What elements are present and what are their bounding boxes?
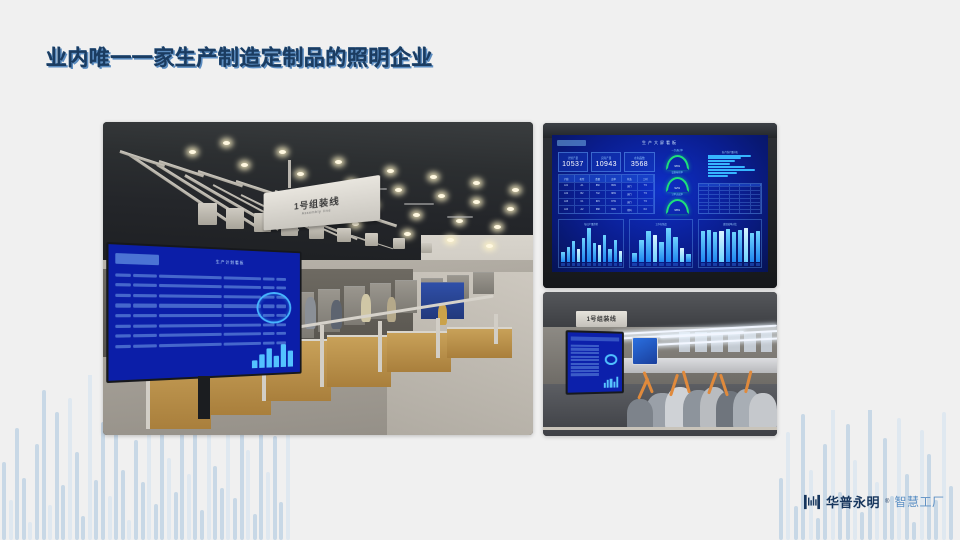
screen-table-cell: [115, 335, 131, 339]
screen-table-cell: [263, 332, 274, 335]
chart-wip: 工序在制品: [629, 219, 694, 268]
exception-cell: [720, 195, 730, 198]
axis-tick: [567, 263, 570, 266]
table-cell: 待料: [622, 206, 638, 213]
screen-table-cell: [115, 345, 131, 349]
axis-tick: [653, 263, 658, 266]
barrier-post: [436, 318, 440, 359]
table-header-cell: 数量: [590, 175, 606, 182]
chart-bar: [738, 230, 742, 262]
gauge: 订单达成率98%: [659, 195, 696, 214]
axis-tick: [577, 263, 580, 266]
screen-bar: [287, 350, 292, 367]
decorative-bar: [266, 472, 270, 540]
overhead-duct: [393, 238, 405, 249]
decorative-bar: [868, 410, 872, 540]
exception-cell: [730, 206, 740, 209]
decorative-bar: [246, 450, 250, 540]
decorative-bar: [193, 430, 197, 540]
decorative-bar: [920, 430, 924, 540]
screen-bar: [258, 354, 264, 368]
high-bay-light: [395, 188, 402, 192]
kpi-value: 3568: [631, 161, 648, 168]
chart-bar: [666, 228, 671, 262]
chart-label-1: 每日产量趋势: [559, 220, 624, 226]
exception-cell: [751, 195, 761, 198]
photo-production-dashboard: 生产大屏看板 计划产量10537实际产量10943在制品数3568 产线机型数量…: [543, 123, 777, 288]
screen-table-cell: [115, 284, 131, 288]
ranking-bar: [708, 172, 737, 174]
ranking-bar: [708, 157, 741, 159]
chart-bar: [701, 231, 705, 262]
decorative-bar: [213, 466, 217, 540]
high-bay-light: [456, 219, 463, 223]
gauge-group: 一次通过率96%设备稼动率92%订单达成率98%: [659, 151, 696, 214]
screen-table-cell: [159, 343, 222, 348]
overhead-duct: [421, 243, 432, 252]
line-screen-row: [571, 359, 599, 361]
chart-label-2: 工序在制品: [630, 220, 693, 226]
high-bay-light: [241, 163, 248, 167]
table-cell: A1: [575, 183, 591, 190]
decorative-bar: [273, 436, 277, 540]
brand-sub: 智慧工厂: [894, 493, 944, 510]
chart-bar: [639, 240, 644, 263]
exception-cell: [699, 187, 709, 190]
line-screen-rows: [568, 332, 622, 333]
overhead-duct: [198, 203, 217, 225]
kpi-card: 在制品数3568: [624, 152, 654, 173]
high-bay-light: [387, 169, 394, 173]
axis-tick: [707, 263, 711, 266]
table-cell: 98%: [606, 191, 622, 198]
axis-tick: [646, 263, 651, 266]
screen-table-cell: [223, 295, 260, 299]
decorative-bar: [134, 440, 138, 540]
plot-3: [701, 228, 760, 262]
line-screen-row: [571, 352, 599, 355]
screen-table-cell: [276, 278, 286, 281]
axis-tick: [666, 263, 671, 266]
table-cell: 97%: [606, 199, 622, 206]
screen-table-cell: [115, 314, 131, 317]
exception-cell: [740, 199, 750, 202]
production-table: 产线机型数量良率状态工时L01A186099%运行7.5L02B274298%运…: [558, 174, 655, 214]
table-cell: 915: [590, 199, 606, 206]
ranking-bar: [708, 169, 754, 171]
exception-cell: [699, 210, 709, 213]
table-header-row: 产线机型数量良率状态工时: [559, 175, 654, 183]
decorative-bars-right: [775, 410, 960, 540]
decorative-bar: [167, 458, 171, 540]
table-cell: L02: [559, 191, 575, 198]
exception-cell: [720, 199, 730, 202]
screen-table-cell: [115, 304, 131, 307]
production-board-screen: 生产计划看板: [106, 242, 301, 384]
axis-tick: [732, 263, 736, 266]
kpi-card: 计划产量10537: [558, 152, 588, 173]
exception-cell: [730, 210, 740, 213]
exception-cell: [709, 206, 719, 209]
photo-assembly-line-workers: 1号组装线: [543, 292, 777, 436]
exception-cell: [751, 187, 761, 190]
exception-cell: [740, 203, 750, 206]
axis-tick: [619, 263, 622, 266]
chart-bar: [673, 237, 678, 263]
decorative-bar: [55, 412, 59, 540]
sign-stem: [288, 160, 291, 188]
table-cell: 860: [590, 183, 606, 190]
decorative-bar: [9, 500, 13, 540]
exception-cell: [751, 184, 761, 187]
screen-bar: [273, 356, 278, 368]
front-rail: [543, 427, 777, 430]
display-bezel: 生产大屏看板 计划产量10537实际产量10943在制品数3568 产线机型数量…: [543, 123, 777, 288]
screen-table-cell: [276, 332, 286, 335]
decorative-bar: [200, 510, 204, 540]
worker: [627, 399, 653, 431]
screen-table-cell: [133, 274, 157, 278]
exception-cell: [709, 199, 719, 202]
axis-tick: [614, 263, 617, 266]
axis-tick: [582, 263, 585, 266]
decorative-bar: [101, 422, 105, 540]
screen-table-cell: [115, 324, 131, 327]
axis-2: [632, 263, 691, 266]
gauge-value: 98%: [659, 208, 696, 212]
table-cell: L04: [559, 206, 575, 213]
screen-table-row: [115, 282, 295, 291]
dashboard-title: 生产大屏看板: [557, 140, 764, 146]
exception-cell: [730, 191, 740, 194]
table-cell: 99%: [606, 206, 622, 213]
gauge: 设备稼动率92%: [659, 173, 696, 192]
screen-stand: [198, 376, 211, 420]
screen-table-row: [115, 331, 295, 340]
overhead-duct: [337, 228, 351, 242]
chart-bar: [680, 248, 685, 262]
kpi-label: 在制品数: [634, 156, 644, 160]
table-cell: 7.5: [638, 191, 654, 198]
brand-superscript: ®: [885, 499, 889, 505]
line-screen-row: [571, 373, 599, 376]
decorative-bar: [897, 418, 901, 540]
barrier-post: [494, 314, 498, 344]
axis-tick: [750, 263, 754, 266]
exception-cell: [709, 184, 719, 187]
table-cell: 7.5: [638, 199, 654, 206]
exception-table: [698, 183, 763, 214]
axis-tick: [598, 263, 601, 266]
exception-cell: [751, 206, 761, 209]
decorative-bar: [883, 438, 887, 540]
decorative-bar: [35, 444, 39, 540]
chart-bar: [726, 229, 730, 262]
exception-cell: [699, 191, 709, 194]
axis-tick: [726, 263, 730, 266]
exception-cell: [751, 199, 761, 202]
screen-table-cell: [223, 314, 260, 317]
decorative-bar: [187, 474, 191, 540]
screen-table-cell: [223, 305, 260, 308]
screen-bar: [280, 344, 285, 367]
chart-bar: [646, 231, 651, 262]
screen-table-cell: [223, 333, 260, 337]
decorative-bar: [48, 505, 52, 540]
axis-tick: [659, 263, 664, 266]
table-cell: L03: [559, 199, 575, 206]
high-bay-light: [413, 213, 420, 217]
chart-label-3: 班组效率对比: [699, 220, 762, 226]
barrier-post: [378, 321, 382, 372]
exception-cell: [730, 184, 740, 187]
screen-table-cell: [133, 294, 157, 298]
table-header-cell: 工时: [638, 175, 654, 182]
gauge: 一次通过率96%: [659, 151, 696, 170]
screen-table-cell: [263, 287, 274, 290]
decorative-bar: [81, 516, 85, 540]
table-cell: 7.5: [638, 183, 654, 190]
exception-cell: [720, 184, 730, 187]
axis-tick: [701, 263, 705, 266]
line-tablet: [632, 337, 658, 366]
chart-bar: [619, 251, 622, 263]
axis-tick: [673, 263, 678, 266]
chart-bar: [750, 233, 754, 262]
high-bay-light: [486, 244, 493, 248]
chart-bar: [598, 245, 601, 262]
screen-table-cell: [133, 314, 157, 317]
screen-table-cell: [159, 324, 222, 328]
line-screen-row: [571, 348, 599, 351]
decorative-bar: [127, 520, 131, 540]
axis-tick: [680, 263, 685, 266]
exception-cell: [740, 184, 750, 187]
decorative-bar: [68, 398, 72, 540]
table-header-cell: 产线: [559, 175, 575, 182]
chart-bar: [561, 252, 564, 262]
exception-cell: [740, 195, 750, 198]
decorative-bar: [875, 482, 879, 540]
decorative-bar: [786, 432, 790, 540]
ceiling-fan: [447, 216, 473, 218]
screen-table-cell: [223, 286, 260, 290]
axis-tick: [719, 263, 723, 266]
line-screen-gauge: [605, 354, 618, 365]
table-cell: 742: [590, 191, 606, 198]
exception-cell: [730, 187, 740, 190]
decorative-bar: [860, 512, 864, 540]
exception-cell: [751, 210, 761, 213]
exception-cell: [699, 184, 709, 187]
axis-3: [701, 263, 760, 266]
decorative-bar: [831, 410, 835, 540]
exception-cell: [709, 210, 719, 213]
decorative-bar: [94, 480, 98, 540]
kpi-card: 实际产量10943: [591, 152, 621, 173]
line-screen-bar: [617, 377, 619, 388]
screen-table-cell: [115, 294, 131, 298]
decorative-bar: [279, 502, 283, 540]
decorative-bar: [141, 482, 145, 540]
table-cell: 运行: [622, 191, 638, 198]
screen-table-cell: [223, 323, 260, 326]
line-screen-row: [571, 370, 599, 373]
screen-table-cell: [276, 323, 286, 326]
exception-cell: [709, 187, 719, 190]
exception-cell: [740, 191, 750, 194]
screen-table-cell: [133, 304, 157, 307]
kpi-label: 计划产量: [568, 156, 578, 160]
screen-bar-chart: [251, 340, 293, 368]
table-cell: 运行: [622, 183, 638, 190]
exception-cell: [709, 203, 719, 206]
table-cell: A2: [575, 206, 591, 213]
screen-logo: [115, 254, 159, 266]
table-header-cell: 机型: [575, 175, 591, 182]
exception-cell: [720, 187, 730, 190]
screen-table-cell: [263, 323, 274, 326]
decorative-bar: [942, 412, 946, 540]
decorative-bar: [253, 514, 257, 540]
kpi-value: 10943: [595, 161, 616, 168]
gauge-label: 订单达成率: [659, 192, 696, 196]
chart-bar: [659, 242, 664, 263]
screen-table-cell: [133, 344, 157, 348]
exception-cell: [740, 206, 750, 209]
exception-cell: [709, 195, 719, 198]
axis-tick: [587, 263, 590, 266]
axis-tick: [756, 263, 760, 266]
line-screen-title: [571, 336, 619, 342]
screen-table-cell: [159, 304, 222, 308]
ranking-bar: [708, 175, 728, 177]
axis-tick: [603, 263, 606, 266]
high-bay-light: [335, 160, 342, 164]
screen-table-cell: [159, 294, 222, 298]
gauge-value: 96%: [659, 164, 696, 168]
barrier-post: [320, 325, 324, 387]
exception-cell: [751, 191, 761, 194]
screen-table-cell: [133, 324, 157, 328]
decorative-bar: [240, 420, 244, 540]
line-screen-row: [571, 355, 599, 358]
material-rack: [473, 272, 495, 294]
ranking-label: 各产线产量排名: [698, 150, 763, 154]
chart-bar: [593, 243, 596, 262]
chart-bar: [732, 232, 736, 263]
screen-table-cell: [133, 334, 157, 338]
decorative-bar: [28, 522, 32, 540]
decorative-bar: [75, 452, 79, 540]
decorative-bar: [912, 522, 916, 540]
line-sign-text: 1号组装线: [587, 314, 617, 323]
table-cell: 688: [590, 206, 606, 213]
decorative-bar: [121, 470, 125, 540]
table-row: L03C191597%运行7.5: [559, 199, 654, 207]
decorative-bar: [88, 375, 92, 540]
exception-row: [699, 210, 762, 213]
chart-bar: [686, 254, 691, 263]
page-title: 业内唯一一家生产制造定制品的照明企业: [46, 42, 433, 72]
chart-bar: [713, 232, 717, 262]
exception-cell: [720, 203, 730, 206]
screen-table-row: [115, 272, 295, 283]
chart-bar: [719, 231, 723, 263]
decorative-bar: [15, 428, 19, 540]
decorative-bar: [108, 496, 112, 540]
ranking-bar: [708, 155, 751, 157]
exception-cell: [751, 203, 761, 206]
screen-table-cell: [133, 284, 157, 288]
table-cell: 6.0: [638, 206, 654, 213]
axis-tick: [738, 263, 742, 266]
axis-tick: [744, 263, 748, 266]
screen-bar: [266, 348, 271, 367]
gauge-label: 设备稼动率: [659, 170, 696, 174]
chart-bar: [653, 235, 658, 262]
decorative-bar: [779, 478, 783, 540]
chart-bar: [567, 247, 570, 262]
chart-bar: [756, 231, 760, 263]
ranking-bar: [708, 160, 735, 162]
chart-bar: [582, 238, 585, 262]
high-bay-light: [297, 172, 304, 176]
photo-factory-assembly-aisle: 1号组装线 Assembly line 生产计划看板: [103, 122, 533, 435]
chart-daily-output: 每日产量趋势: [558, 219, 625, 268]
chart-bar: [572, 241, 575, 263]
exception-cell: [730, 199, 740, 202]
decorative-bar: [61, 485, 65, 540]
exception-cell: [699, 199, 709, 202]
table-cell: B2: [575, 191, 591, 198]
axis-tick: [608, 263, 611, 266]
worker: [749, 393, 777, 430]
line-screen-bars: [604, 374, 619, 387]
chart-bar: [577, 249, 580, 262]
screen-table-cell: [115, 273, 131, 277]
chart-bar: [632, 253, 637, 262]
line-board-screen: [566, 330, 624, 395]
decorative-bar: [2, 462, 6, 540]
table-cell: 99%: [606, 183, 622, 190]
kpi-group: 计划产量10537实际产量10943在制品数3568: [558, 152, 655, 173]
axis-tick: [572, 263, 575, 266]
line-screen-row: [571, 363, 599, 365]
axis-tick: [632, 263, 637, 266]
axis-tick: [561, 263, 564, 266]
exception-cell: [699, 195, 709, 198]
decorative-bar: [42, 390, 46, 540]
chart-bar: [608, 249, 611, 263]
line-sign: 1号组装线: [576, 311, 627, 327]
table-header-cell: 良率: [606, 175, 622, 182]
screen-table-cell: [159, 314, 222, 317]
decorative-bar: [233, 498, 237, 540]
overhead-duct: [365, 233, 378, 246]
exception-cell: [740, 210, 750, 213]
axis-tick: [593, 263, 596, 266]
chart-bar: [744, 228, 748, 262]
exception-cell: [720, 191, 730, 194]
overhead-duct: [226, 208, 244, 228]
exception-cell: [740, 187, 750, 190]
decorative-bar: [22, 478, 26, 540]
kpi-value: 10537: [562, 161, 583, 168]
table-cell: 运行: [622, 199, 638, 206]
ranking-bar-chart: 各产线产量排名: [698, 150, 763, 180]
screen-gauge: [256, 292, 291, 324]
